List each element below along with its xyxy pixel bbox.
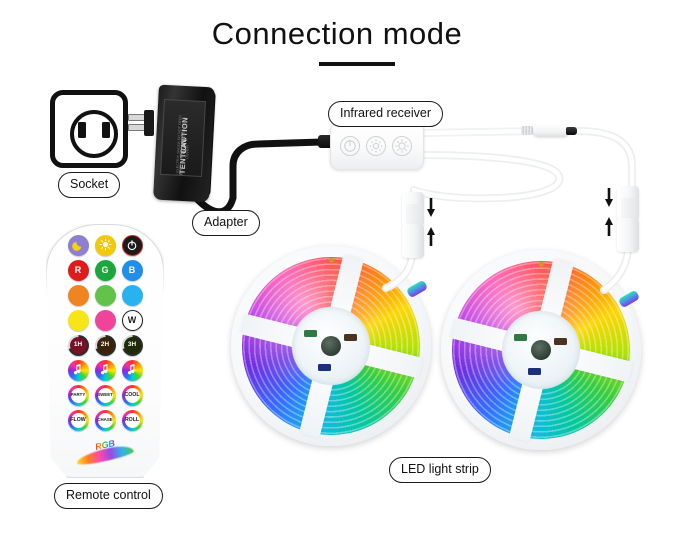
remote-mode-label: ROLL — [125, 413, 140, 428]
remote-button-roll[interactable]: ROLL — [122, 410, 143, 431]
remote-mode-label: COOL — [125, 388, 140, 403]
socket-slot-left — [78, 122, 86, 138]
arrow-up-icon — [426, 226, 436, 246]
remote-button-row — [57, 235, 153, 256]
adapter-warning-label: CAUTION ATTENTION RISK OF ELECTRIC SHOCK… — [160, 99, 206, 177]
barrel-shell — [533, 124, 569, 137]
socket-slot-right — [102, 122, 110, 138]
barrel-strain-relief — [521, 126, 533, 135]
remote-button-g[interactable]: G — [95, 260, 116, 281]
remote-button-row: PARTYSWEETCOOL — [57, 385, 153, 406]
ir-sensor-icon[interactable] — [366, 136, 386, 156]
remote-mode-label: FLOW — [71, 413, 86, 428]
remote-button-button[interactable] — [68, 285, 89, 306]
led-chip — [554, 338, 567, 345]
remote-mode-label: CHASE — [98, 413, 113, 428]
led-light-strip-label: LED light strip — [389, 457, 491, 483]
remote-button-power-icon[interactable] — [122, 235, 143, 256]
remote-button-row: 1H2H3H — [57, 335, 153, 356]
remote-button-b[interactable]: B — [122, 260, 143, 281]
connector-plug-lower — [617, 218, 639, 252]
reel-marker-dot — [329, 258, 334, 263]
remote-button-w[interactable]: W — [122, 310, 143, 331]
wall-socket — [50, 90, 128, 168]
socket-label: Socket — [58, 172, 120, 198]
arrow-down-icon — [604, 188, 614, 208]
music-note-icon — [126, 363, 137, 377]
infrared-receiver[interactable] — [330, 122, 424, 170]
remote-button-row — [57, 285, 153, 306]
remote-button-sweet[interactable]: SWEET — [95, 385, 116, 406]
power-icon[interactable] — [340, 136, 360, 156]
reel-marker-dot — [539, 262, 544, 267]
remote-button-3h[interactable]: 3H — [122, 335, 143, 356]
remote-timer-label: 1H — [70, 337, 87, 354]
remote-button-button[interactable] — [95, 285, 116, 306]
remote-button-music-note-icon[interactable] — [68, 360, 89, 381]
remote-button-music-note-icon[interactable] — [95, 360, 116, 381]
connector-plug-lower — [402, 224, 424, 258]
music-note-icon — [72, 363, 83, 377]
led-chip — [344, 334, 357, 341]
remote-button-row: W — [57, 310, 153, 331]
remote-button-2h[interactable]: 2H — [95, 335, 116, 356]
led-chip — [528, 368, 541, 375]
remote-button-row: FLOWCHASEROLL — [57, 410, 153, 431]
adapter-prongs — [126, 112, 152, 134]
reel-hub-center — [531, 340, 551, 360]
remote-timer-label: 3H — [124, 337, 141, 354]
led-chip — [514, 334, 527, 341]
inline-connector-left — [402, 192, 424, 258]
arrow-up-icon — [604, 216, 614, 236]
power-icon — [126, 239, 138, 253]
adapter-prong-base — [144, 110, 154, 136]
music-note-icon — [99, 363, 110, 377]
remote-button-row — [57, 360, 153, 381]
adapter-label: Adapter — [192, 210, 260, 236]
remote-button-button[interactable] — [122, 285, 143, 306]
remote-button-chase[interactable]: CHASE — [95, 410, 116, 431]
page-title: Connection mode — [0, 16, 674, 52]
barrel-connector — [533, 124, 577, 137]
remote-button-1h[interactable]: 1H — [68, 335, 89, 356]
reel-hub-center — [321, 336, 341, 356]
remote-button-cool[interactable]: COOL — [122, 385, 143, 406]
moon-icon — [72, 238, 85, 253]
infrared-receiver-label: Infrared receiver — [328, 101, 443, 127]
connector-inner-body — [621, 198, 635, 220]
brightness-icon[interactable] — [392, 136, 412, 156]
connector-plug-upper — [402, 192, 424, 226]
led-chip — [318, 364, 331, 371]
power-adapter: CAUTION ATTENTION RISK OF ELECTRIC SHOCK… — [148, 86, 228, 211]
sun-icon — [99, 238, 112, 253]
remote-button-grid: RGBW1H2H3HPARTYSWEETCOOLFLOWCHASEROLL — [57, 235, 153, 435]
remote-button-r[interactable]: R — [68, 260, 89, 281]
connection-diagram: Connection mode Socket CAUTION ATTENTION… — [0, 0, 674, 547]
arrow-down-icon — [426, 198, 436, 218]
adapter-fine-print: RISK OF ELECTRIC SHOCK DO NOT OPEN RISQU… — [175, 112, 193, 177]
remote-control[interactable]: RGBW1H2H3HPARTYSWEETCOOLFLOWCHASEROLL RG… — [46, 224, 164, 478]
title-underline — [319, 62, 395, 66]
led-strip-reel — [231, 246, 431, 446]
remote-control-label: Remote control — [54, 483, 163, 509]
remote-button-moon-icon[interactable] — [68, 235, 89, 256]
remote-button-button[interactable] — [68, 310, 89, 331]
led-strip-reel — [441, 250, 641, 450]
connector-inner-body — [406, 204, 420, 226]
remote-button-row: RGB — [57, 260, 153, 281]
remote-button-sun-icon[interactable] — [95, 235, 116, 256]
remote-button-button[interactable] — [95, 310, 116, 331]
remote-button-music-note-icon[interactable] — [122, 360, 143, 381]
remote-button-party[interactable]: PARTY — [68, 385, 89, 406]
led-chip — [304, 330, 317, 337]
connector-plug-upper — [617, 186, 639, 220]
inline-connector-right — [617, 186, 639, 252]
remote-timer-label: 2H — [97, 337, 114, 354]
remote-mode-label: SWEET — [98, 388, 113, 403]
remote-mode-label: PARTY — [71, 388, 86, 403]
remote-button-flow[interactable]: FLOW — [68, 410, 89, 431]
barrel-tip — [566, 127, 577, 135]
